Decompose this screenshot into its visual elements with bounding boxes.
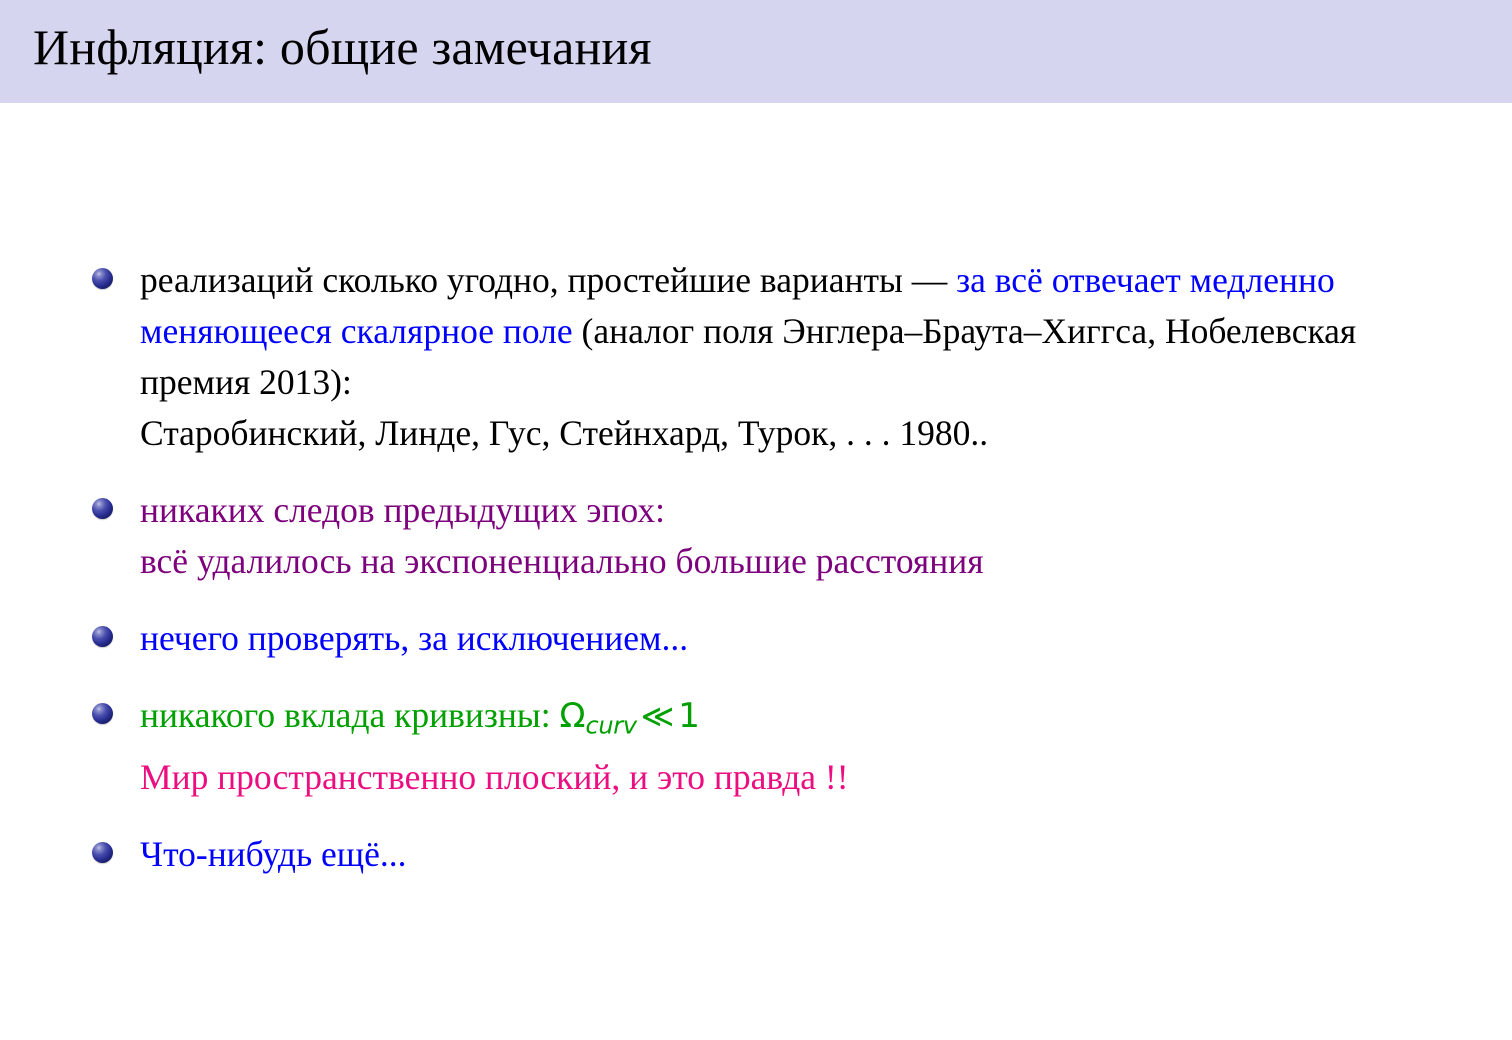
list-item: нечего проверять, за исключением... <box>92 613 1432 664</box>
bullet-3-line-1: нечего проверять, за исключением... <box>140 613 1432 664</box>
bullet-4-line-1: никакого вклада кривизны: Ωcurv≪1 <box>140 690 1432 752</box>
list-item: никаких следов предыдущих эпох: всё удал… <box>92 485 1432 587</box>
bullet-2-line-1: никаких следов предыдущих эпох: <box>140 485 1432 536</box>
curvature-formula: Ωcurv≪1 <box>560 696 700 736</box>
blue-ball-bullet-icon <box>92 842 113 863</box>
omega-subscript: curv <box>585 712 636 740</box>
omega-symbol: Ω <box>560 696 586 736</box>
presentation-slide: Инфляция: общие замечания реализаций ско… <box>0 0 1512 1040</box>
list-item: Что-нибудь ещё... <box>92 829 1432 880</box>
list-item: реализаций сколько угодно, простейшие ва… <box>92 255 1432 459</box>
blue-ball-bullet-icon <box>92 498 113 519</box>
slide-body: реализаций сколько угодно, простейшие ва… <box>0 103 1512 1040</box>
slide-title: Инфляция: общие замечания <box>33 16 652 78</box>
list-item: никакого вклада кривизны: Ωcurv≪1 Мир пр… <box>92 690 1432 803</box>
bullet-4-line-2: Мир пространственно плоский, и это правд… <box>140 752 1432 803</box>
bullet-list: реализаций сколько угодно, простейшие ва… <box>92 255 1432 880</box>
blue-ball-bullet-icon <box>92 626 113 647</box>
bullet-1-line-2: Старобинский, Линде, Гус, Стейнхард, Тур… <box>140 408 1432 459</box>
slide-title-bar: Инфляция: общие замечания <box>0 0 1512 103</box>
bullet-1-segment-1: реализаций сколько угодно, простейшие ва… <box>140 260 956 300</box>
bullet-5-line-1: Что-нибудь ещё... <box>140 829 1432 880</box>
bullet-1-text: реализаций сколько угодно, простейшие ва… <box>140 255 1432 408</box>
bullet-4-label: никакого вклада кривизны: <box>140 695 560 735</box>
much-less-than-symbol: ≪ <box>637 697 679 735</box>
blue-ball-bullet-icon <box>92 703 113 724</box>
formula-value: 1 <box>678 696 700 736</box>
bullet-2-line-2: всё удалилось на экспоненциально большие… <box>140 536 1432 587</box>
blue-ball-bullet-icon <box>92 268 113 289</box>
